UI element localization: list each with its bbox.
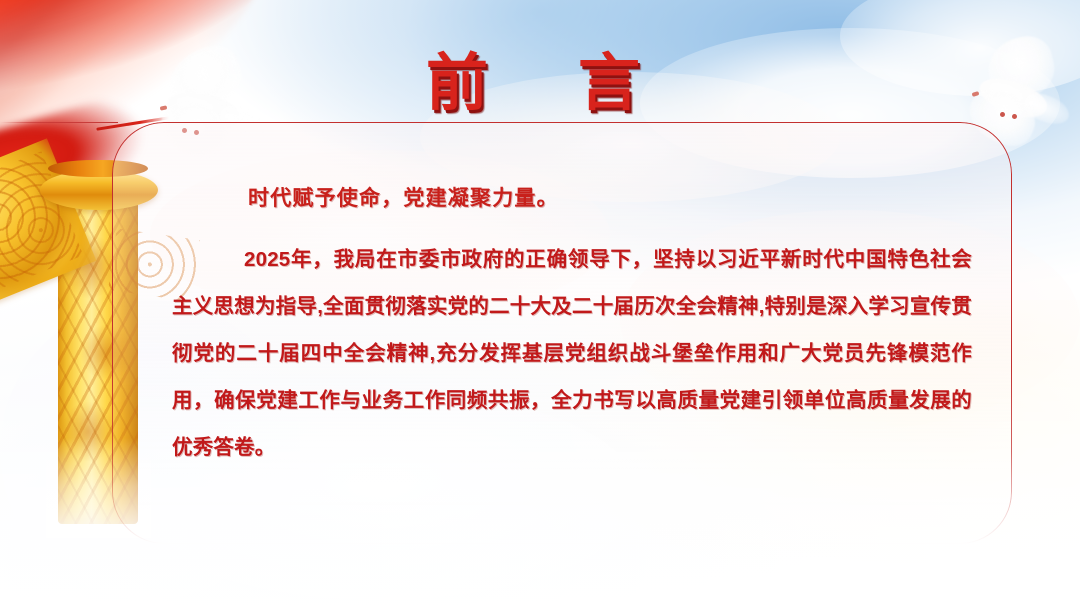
preface-paragraph: 2025年，我局在市委市政府的正确领导下，坚持以习近平新时代中国特色社会主义思想…: [172, 236, 972, 471]
content-body: 时代赋予使命，党建凝聚力量。 2025年，我局在市委市政府的正确领导下，坚持以习…: [172, 176, 972, 471]
lead-sentence: 时代赋予使命，党建凝聚力量。: [172, 176, 972, 222]
slide-canvas: 前 言 时代赋予使命，党建凝聚力量。 2025年，我局在市委市政府的正确领导下，…: [0, 0, 1080, 608]
page-title: 前 言: [0, 32, 1080, 122]
